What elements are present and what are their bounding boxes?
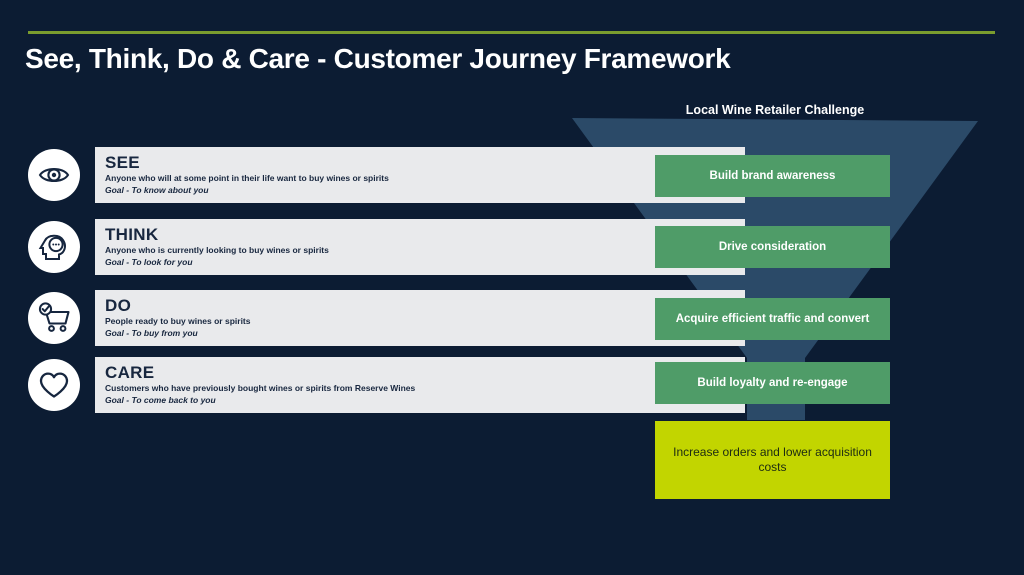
stage-goal: Goal - To buy from you [105,328,250,339]
heart-icon [28,359,80,411]
challenge-header: Local Wine Retailer Challenge [655,103,895,117]
objective-label: Acquire efficient traffic and convert [676,312,870,326]
objective-build-brand-awareness[interactable]: Build brand awareness [655,155,890,197]
objective-drive-consideration[interactable]: Drive consideration [655,226,890,268]
objective-label: Build brand awareness [710,169,836,183]
shopping-cart-check-icon [28,292,80,344]
stage-description: Anyone who will at some point in their l… [105,173,389,184]
objective-label: Drive consideration [719,240,826,254]
stage-text: SEE Anyone who will at some point in the… [105,147,389,203]
stage-text: THINK Anyone who is currently looking to… [105,219,329,275]
stage-goal: Goal - To come back to you [105,395,415,406]
stage-description: Customers who have previously bought win… [105,383,415,394]
top-accent-rule [28,31,995,34]
page-title: See, Think, Do & Care - Customer Journey… [25,43,730,75]
objective-build-loyalty-reengage[interactable]: Build loyalty and re-engage [655,362,890,404]
outcome-box[interactable]: Increase orders and lower acquisition co… [655,421,890,499]
head-thought-bubble-icon [28,221,80,273]
stage-name: SEE [105,154,389,172]
stage-description: Anyone who is currently looking to buy w… [105,245,329,256]
objective-acquire-traffic-convert[interactable]: Acquire efficient traffic and convert [655,298,890,340]
slide-canvas: See, Think, Do & Care - Customer Journey… [0,0,1024,575]
outcome-label: Increase orders and lower acquisition co… [665,445,880,475]
eye-icon [28,149,80,201]
stage-name: DO [105,297,250,315]
stage-goal: Goal - To look for you [105,257,329,268]
stage-goal: Goal - To know about you [105,185,389,196]
stage-text: DO People ready to buy wines or spirits … [105,290,250,346]
stage-text: CARE Customers who have previously bough… [105,357,415,413]
stage-description: People ready to buy wines or spirits [105,316,250,327]
stage-name: THINK [105,226,329,244]
objective-label: Build loyalty and re-engage [697,376,847,390]
stage-name: CARE [105,364,415,382]
